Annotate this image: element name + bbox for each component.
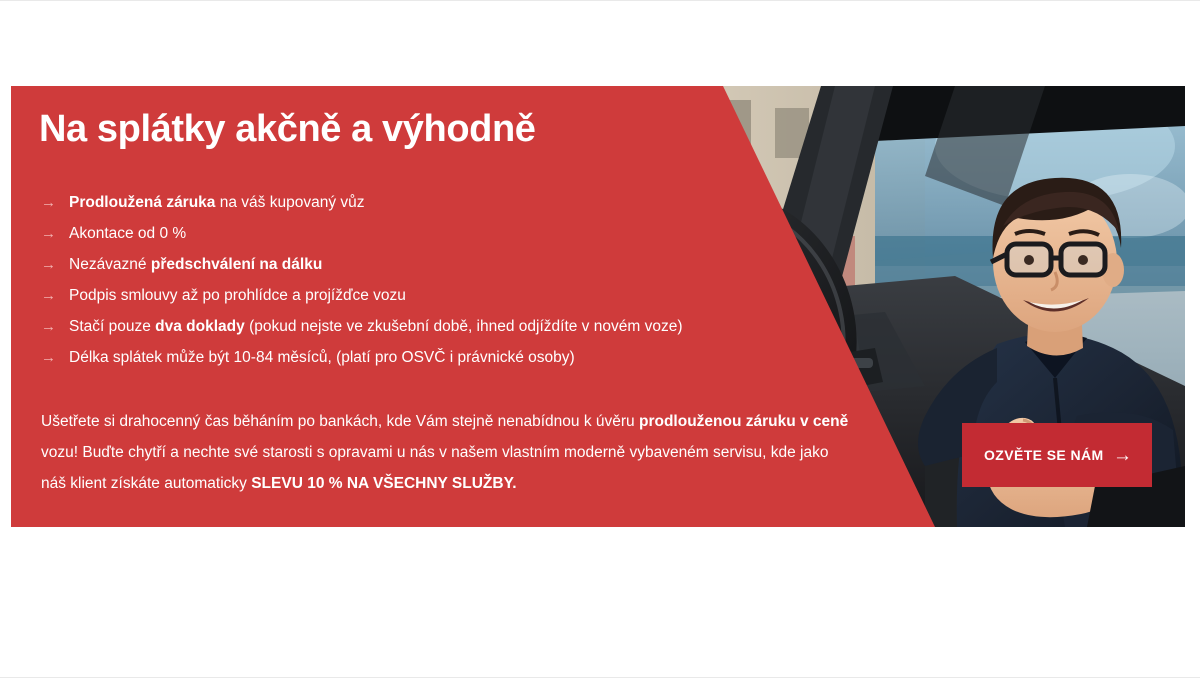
- banner-content: Na splátky akčně a výhodně → Prodloužená…: [11, 86, 951, 527]
- list-item-label: Stačí pouze dva doklady (pokud nejste ve…: [69, 311, 682, 342]
- list-item-rest-2: (pokud nejste ve zkušební době, ihned od…: [245, 318, 683, 335]
- page-title: Na splátky akčně a výhodně: [39, 108, 536, 151]
- benefits-list: → Prodloužená záruka na váš kupovaný vůz…: [41, 187, 841, 373]
- list-item-label: Akontace od 0 %: [69, 218, 186, 249]
- list-item-label: Prodloužená záruka na váš kupovaný vůz: [69, 187, 365, 218]
- list-item-bold-tail: předschválení na dálku: [151, 256, 322, 273]
- list-item: → Délka splátek může být 10-84 měsíců, (…: [41, 342, 841, 373]
- list-item-rest: Akontace od 0 %: [69, 225, 186, 242]
- list-item: → Nezávazné předschválení na dálku: [41, 249, 841, 280]
- paragraph-part-1: Ušetřete si drahocenný čas běháním po ba…: [41, 413, 639, 430]
- list-item-label: Délka splátek může být 10-84 měsíců, (pl…: [69, 342, 575, 373]
- promo-paragraph: Ušetřete si drahocenný čas běháním po ba…: [41, 406, 851, 499]
- list-item-rest: na váš kupovaný vůz: [215, 194, 364, 211]
- arrow-right-icon: →: [41, 187, 69, 218]
- list-item-label: Podpis smlouvy až po prohlídce a projížď…: [69, 280, 406, 311]
- list-item: → Stačí pouze dva doklady (pokud nejste …: [41, 311, 841, 342]
- list-item-rest: Stačí pouze: [69, 318, 155, 335]
- list-item-rest: Délka splátek může být 10-84 měsíců, (pl…: [69, 349, 575, 366]
- contact-us-button[interactable]: OZVĚTE SE NÁM →: [962, 423, 1152, 487]
- paragraph-bold-1: prodlouženou záruku v ceně: [639, 413, 848, 430]
- list-item-rest: Podpis smlouvy až po prohlídce a projížď…: [69, 287, 406, 304]
- arrow-right-icon: →: [41, 218, 69, 249]
- list-item: → Akontace od 0 %: [41, 218, 841, 249]
- paragraph-bold-2: SLEVU 10 % NA VŠECHNY SLUŽBY.: [251, 475, 516, 492]
- list-item-bold-mid: dva doklady: [155, 318, 245, 335]
- arrow-right-icon: →: [1113, 446, 1132, 465]
- list-item: → Prodloužená záruka na váš kupovaný vůz: [41, 187, 841, 218]
- contact-us-button-label: OZVĚTE SE NÁM: [984, 447, 1104, 463]
- arrow-right-icon: →: [41, 311, 69, 342]
- list-item: → Podpis smlouvy až po prohlídce a projí…: [41, 280, 841, 311]
- arrow-right-icon: →: [41, 280, 69, 311]
- arrow-right-icon: →: [41, 249, 69, 280]
- list-item-rest: Nezávazné: [69, 256, 151, 273]
- arrow-right-icon: →: [41, 342, 69, 373]
- list-item-label: Nezávazné předschválení na dálku: [69, 249, 322, 280]
- promo-banner: Na splátky akčně a výhodně → Prodloužená…: [11, 86, 1185, 527]
- page-root: Na splátky akčně a výhodně → Prodloužená…: [0, 0, 1200, 678]
- list-item-bold-lead: Prodloužená záruka: [69, 194, 215, 211]
